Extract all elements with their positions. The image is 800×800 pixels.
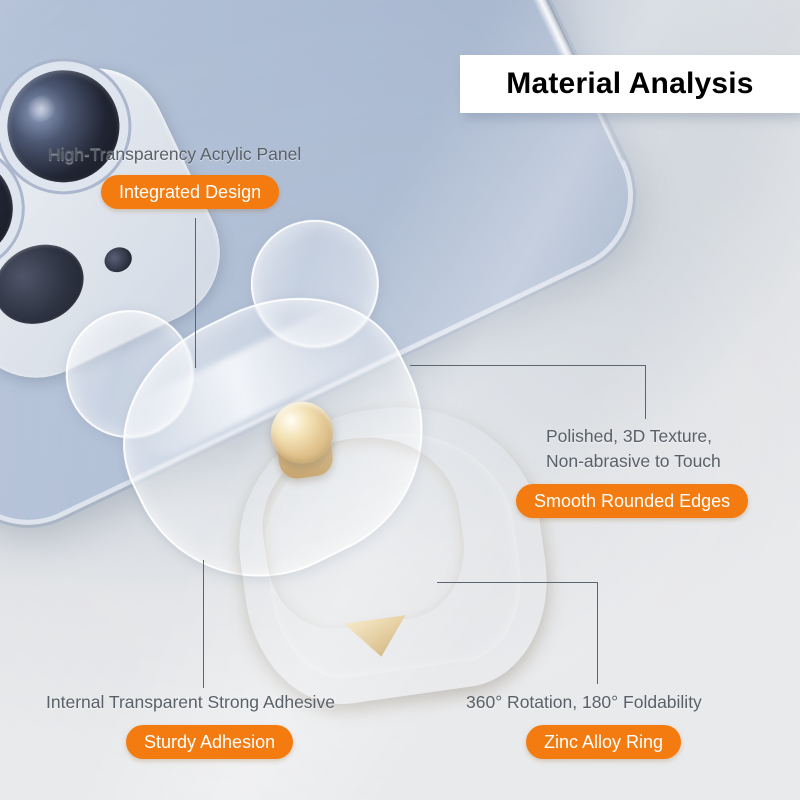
infographic-canvas: Material Analysis High-Transparency Acry… <box>0 0 800 800</box>
callout-caption-acrylic-panel: High-Transparency Acrylic Panel <box>48 142 301 167</box>
callout-acrylic-panel: High-Transparency Acrylic Panel Integrat… <box>48 142 301 209</box>
badge-sturdy-adhesion[interactable]: Sturdy Adhesion <box>126 725 293 759</box>
connector-line-adhesive <box>203 560 204 688</box>
badge-zinc-alloy-ring[interactable]: Zinc Alloy Ring <box>526 725 681 759</box>
badge-integrated-design[interactable]: Integrated Design <box>101 175 279 209</box>
camera-microphone <box>100 243 136 277</box>
connector-line-ring-horizontal <box>437 582 598 583</box>
connector-line-ring-vertical <box>597 582 598 684</box>
title-banner: Material Analysis <box>460 55 800 113</box>
connector-line-acrylic-panel <box>195 218 196 368</box>
callout-adhesive: Internal Transparent Strong Adhesive Stu… <box>46 690 335 759</box>
page-title: Material Analysis <box>506 67 753 101</box>
callout-caption-ring: 360° Rotation, 180° Foldability <box>466 690 702 715</box>
badge-smooth-rounded-edges[interactable]: Smooth Rounded Edges <box>516 484 748 518</box>
callout-caption-adhesive: Internal Transparent Strong Adhesive <box>46 690 335 715</box>
connector-line-surface-finish-horizontal <box>410 365 646 366</box>
callout-caption-surface-finish-line1: Polished, 3D Texture, <box>546 424 748 449</box>
callout-caption-surface-finish-line2: Non-abrasive to Touch <box>546 449 748 474</box>
callout-ring: 360° Rotation, 180° Foldability Zinc All… <box>466 690 702 759</box>
connector-line-surface-finish-vertical <box>645 365 646 419</box>
ring-holder <box>215 373 511 669</box>
callout-surface-finish: Polished, 3D Texture, Non-abrasive to To… <box>546 424 748 518</box>
